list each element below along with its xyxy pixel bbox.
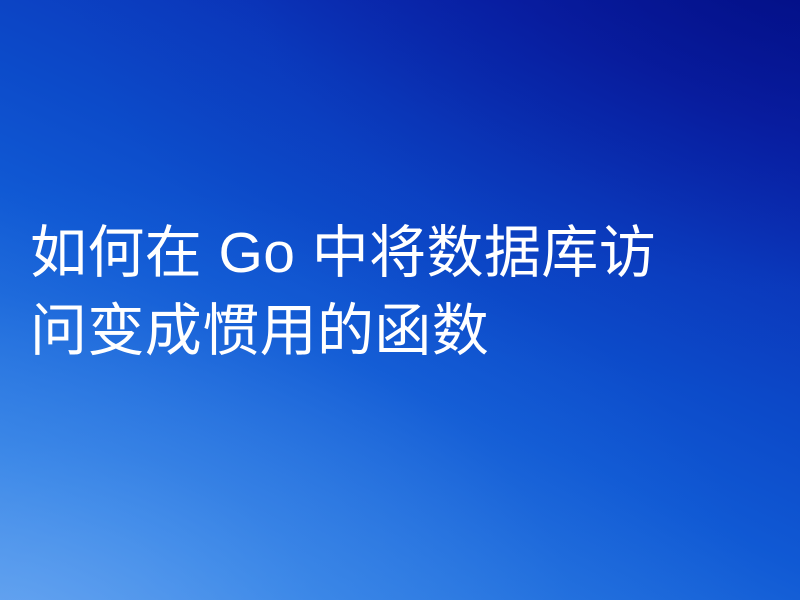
title-line-1-suffix: 中将数据库访 [295,221,656,285]
title-line-1-latin-go: Go [218,221,295,285]
banner-card: 如何在 Go 中将数据库访 问变成惯用的函数 [0,0,800,600]
page-title: 如何在 Go 中将数据库访 问变成惯用的函数 [30,214,776,370]
title-line-2: 问变成惯用的函数 [30,292,776,370]
title-line-1: 如何在 Go 中将数据库访 [30,214,776,292]
title-line-1-prefix: 如何在 [30,221,218,285]
